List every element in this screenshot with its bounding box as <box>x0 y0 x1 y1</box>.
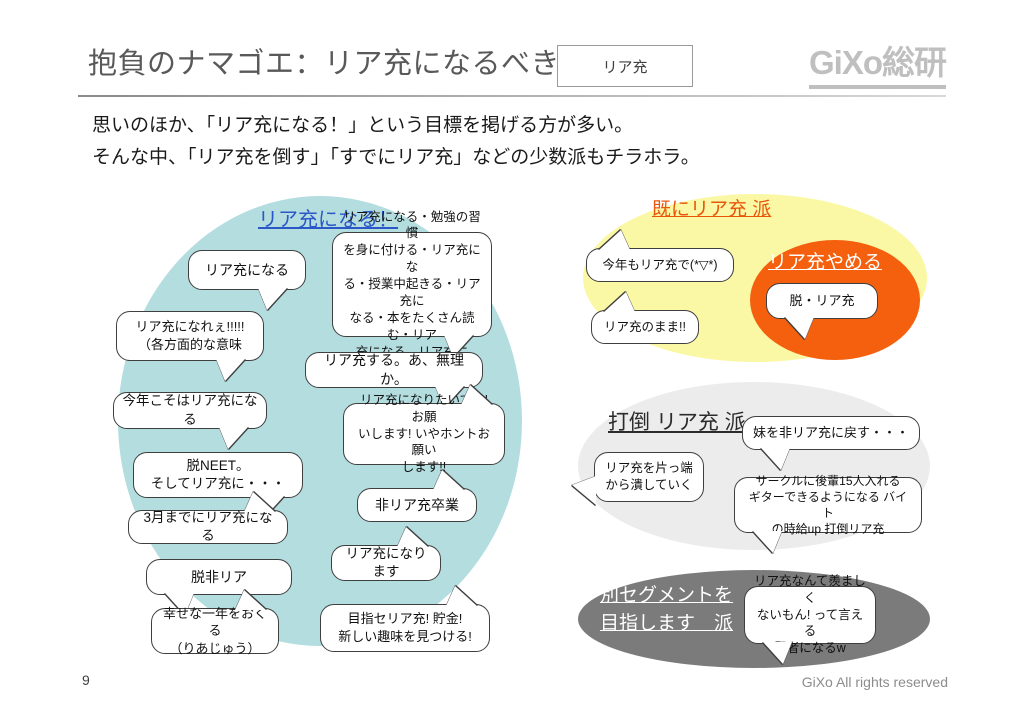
speech-bubble-text: リア充なんて羨ましく ないもん! って言える 賢者になるw <box>753 573 867 657</box>
slide-canvas: 抱負のナマゴエ：リア充になるべきか否か リア充 GiXo総研 思いのほか、「リア… <box>0 0 1024 724</box>
group-heading-other-segment-line-2: 目指します 派 <box>600 610 733 638</box>
speech-bubble[interactable]: 今年もリア充で(*▽*) <box>586 248 734 282</box>
speech-bubble-text: リア充のまま!! <box>604 319 686 336</box>
speech-bubble[interactable]: リア充になる・勉強の習慣 を身に付ける・リア充にな る・授業中起きる・リア充に … <box>332 232 492 337</box>
speech-bubble-text: 幸せな一年をおくる （りあじゅう） <box>160 605 270 658</box>
speech-bubble[interactable]: リア充のまま!! <box>591 310 699 344</box>
speech-bubble-text: 脱NEET。 そしてリア充に・・・ <box>151 457 286 493</box>
speech-bubble[interactable]: 今年こそはリア充になる <box>113 392 267 429</box>
speech-bubble[interactable]: サークルに後輩15人入れる ギターできるようになる バイト の時給up 打倒リア… <box>734 477 922 533</box>
speech-bubble-text: リア充になりたいです! お願 いします! いやホントお願い します!! <box>352 392 496 476</box>
page-number: 9 <box>82 672 90 688</box>
speech-bubble-text: リア充になります <box>340 545 432 581</box>
speech-bubble[interactable]: 目指セリア充! 貯金! 新しい趣味を見つける! <box>320 604 490 652</box>
speech-bubble-text: 今年こそはリア充になる <box>122 392 258 428</box>
speech-bubble-text: リア充になれぇ!!!!! （各方面的な意味 <box>135 318 244 353</box>
speech-bubble[interactable]: リア充になりたいです! お願 いします! いやホントお願い します!! <box>343 403 505 465</box>
gixo-logo: GiXo総研 <box>809 36 946 89</box>
speech-bubble[interactable]: リア充になる <box>188 250 306 290</box>
copyright-notice: GiXo All rights reserved <box>802 674 948 690</box>
speech-bubble-text: サークルに後輩15人入れる ギターできるようになる バイト の時給up 打倒リア… <box>743 473 913 538</box>
header-divider <box>78 95 946 97</box>
speech-bubble[interactable]: 幸せな一年をおくる （りあじゅう） <box>151 608 279 654</box>
speech-bubble-text: 脱・リア充 <box>789 292 854 310</box>
speech-bubble-text: 妹を非リア充に戻す・・・ <box>753 424 909 442</box>
speech-bubble-text: リア充する。あ、無理か。 <box>314 351 474 389</box>
speech-bubble-text: リア充になる <box>205 261 289 280</box>
speech-bubble-text: 3月までにリア充になる <box>137 509 279 545</box>
group-heading-already: 既にリア充 派 <box>652 194 771 221</box>
speech-bubble[interactable]: リア充を片っ端 から潰していく <box>594 452 704 502</box>
speech-bubble[interactable]: リア充なんて羨ましく ないもん! って言える 賢者になるw <box>744 586 876 644</box>
group-heading-quit: リア充やめる <box>768 247 882 274</box>
subtitle-block: 思いのほか、「リア充になる！」という目標を掲げる方が多い。 そんな中、「リア充を… <box>92 110 700 174</box>
speech-bubble[interactable]: 妹を非リア充に戻す・・・ <box>742 416 920 450</box>
speech-bubble-text: 非リア充卒業 <box>375 496 459 515</box>
speech-bubble[interactable]: 脱NEET。 そしてリア充に・・・ <box>133 452 303 498</box>
speech-bubble-text: リア充を片っ端 から潰していく <box>605 460 693 494</box>
header-badge-label: リア充 <box>602 56 647 77</box>
speech-bubble-text: 目指セリア充! 貯金! 新しい趣味を見つける! <box>338 610 472 645</box>
group-heading-other-segment-line-1: 別セグメントを <box>600 582 733 610</box>
header-badge: リア充 <box>557 45 693 87</box>
speech-bubble-text: 今年もリア充で(*▽*) <box>602 257 717 274</box>
speech-bubble-text: 脱非リア <box>191 568 247 587</box>
speech-bubble[interactable]: 脱・リア充 <box>766 283 878 319</box>
group-heading-defeat: 打倒 リア充 派 <box>608 406 746 436</box>
speech-bubble[interactable]: 3月までにリア充になる <box>128 510 288 544</box>
group-heading-other-segment: 別セグメントを 目指します 派 <box>600 582 733 638</box>
speech-bubble[interactable]: リア充する。あ、無理か。 <box>305 352 483 388</box>
speech-bubble[interactable]: 非リア充卒業 <box>357 488 477 522</box>
speech-bubble[interactable]: リア充になります <box>331 545 441 581</box>
speech-bubble[interactable]: リア充になれぇ!!!!! （各方面的な意味 <box>116 311 264 361</box>
subtitle-line-2: そんな中、「リア充を倒す」「すでにリア充」などの少数派もチラホラ。 <box>92 142 700 174</box>
speech-bubble[interactable]: 脱非リア <box>146 559 292 595</box>
speech-bubble-text: リア充になる・勉強の習慣 を身に付ける・リア充にな る・授業中起きる・リア充に … <box>341 209 483 361</box>
subtitle-line-1: 思いのほか、「リア充になる！」という目標を掲げる方が多い。 <box>92 110 700 142</box>
